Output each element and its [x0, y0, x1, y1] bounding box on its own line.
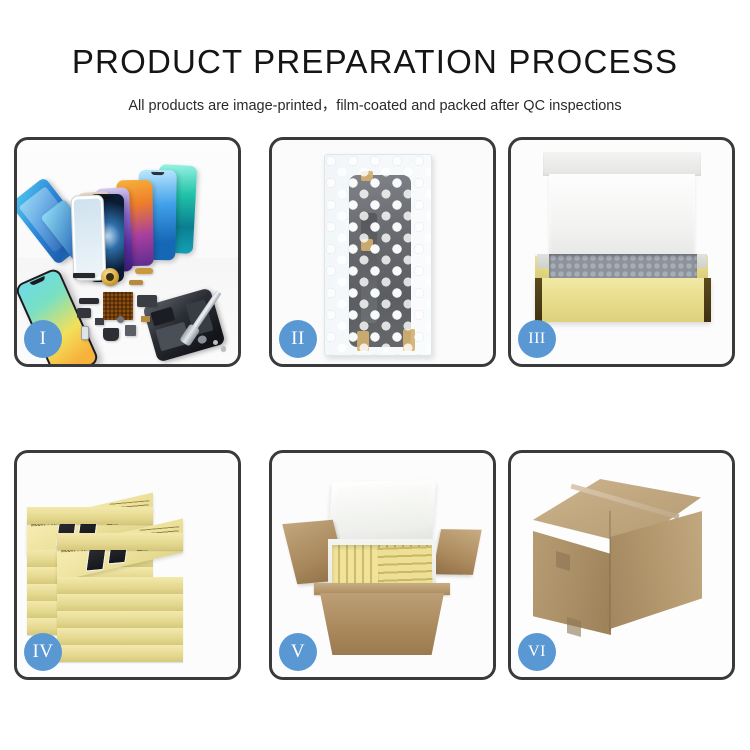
small-part-icon: [141, 316, 150, 322]
carton-body-icon: [320, 593, 444, 655]
styrofoam-lid-icon: [328, 480, 436, 544]
product-preparation-infographic: PRODUCT PREPARATION PROCESS All products…: [0, 0, 750, 750]
carton-edge-icon: [609, 511, 611, 631]
screw-icon: [213, 340, 218, 345]
small-part-icon: [117, 316, 124, 323]
bubble-padding-icon: [549, 254, 697, 280]
bubble-texture: [325, 155, 431, 355]
flex-cable-part-icon: [79, 298, 99, 304]
yellow-box-front-icon: [535, 278, 711, 322]
header: PRODUCT PREPARATION PROCESS All products…: [0, 0, 750, 115]
retail-box-edge: [57, 594, 183, 611]
step-panel-3: III: [508, 137, 735, 367]
box-lid-icon: [543, 152, 701, 176]
packed-yellow-boxes-icon: [377, 546, 432, 588]
retail-box-edge: [57, 628, 183, 645]
step-panel-5: V: [269, 450, 496, 680]
retail-box-edge: [57, 533, 183, 550]
speaker-part-icon: [103, 328, 119, 341]
retail-box-edge: [57, 577, 183, 594]
step-5-illustration: V: [272, 453, 493, 677]
retail-box-edge: [57, 645, 183, 662]
camera-module-part-icon: [137, 295, 157, 307]
flex-cable-part-icon: [77, 308, 91, 318]
page-subtitle: All products are image-printed，film-coat…: [0, 94, 750, 115]
step-1-illustration: I: [17, 140, 238, 364]
chip-part-icon: [125, 325, 136, 336]
step-panel-6: VI: [508, 450, 735, 680]
step-6-illustration: VI: [511, 453, 732, 677]
small-part-icon: [95, 318, 104, 325]
step-panel-4: Mobile Phone Spare Parts Mobile Phone Sp…: [14, 450, 241, 680]
page-title: PRODUCT PREPARATION PROCESS: [0, 43, 750, 81]
step-badge-2: II: [279, 320, 317, 358]
steps-grid: I II: [14, 137, 736, 680]
screen-protector-icon: [71, 194, 107, 281]
foam-sheet-icon: [549, 174, 695, 258]
bubble-wrap-bag-icon: [324, 154, 432, 356]
step-badge-4: IV: [24, 633, 62, 671]
speaker-coil-part-icon: [101, 268, 119, 286]
gold-connector-part-icon: [135, 268, 153, 274]
step-badge-1: I: [24, 320, 62, 358]
button-part-icon: [81, 326, 89, 340]
screw-icon: [221, 346, 226, 351]
retail-box-edge: [57, 611, 183, 628]
gold-connector-part-icon: [129, 280, 143, 285]
step-4-illustration: Mobile Phone Spare Parts Mobile Phone Sp…: [17, 453, 238, 677]
small-part-icon: [73, 273, 95, 278]
printed-screen-image: [86, 547, 107, 571]
step-panel-2: II: [269, 137, 496, 367]
step-badge-3: III: [518, 320, 556, 358]
step-3-illustration: III: [511, 140, 732, 364]
step-2-illustration: II: [272, 140, 493, 364]
step-panel-1: I: [14, 137, 241, 367]
retail-box-edge: [27, 507, 153, 524]
step-badge-5: V: [279, 633, 317, 671]
step-badge-6: VI: [518, 633, 556, 671]
